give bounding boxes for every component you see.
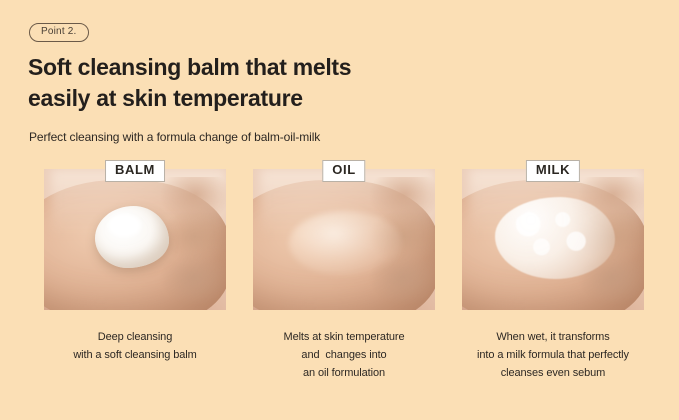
step-card-list: BALM Deep cleansing with a soft cleansin… [44, 169, 644, 382]
step-card-oil: OIL Melts at skin temperature and change… [253, 169, 435, 382]
caption-line: cleanses even sebum [462, 365, 644, 383]
step-label-balm: BALM [105, 160, 165, 182]
balm-blob-shape [95, 206, 169, 268]
step-caption-milk: When wet, it transforms into a milk form… [462, 329, 644, 382]
headline-line-1: Soft cleansing balm that melts [28, 52, 508, 83]
page-title: Soft cleansing balm that melts easily at… [28, 52, 508, 114]
point-badge: Point 2. [29, 23, 89, 42]
step-caption-oil: Melts at skin temperature and changes in… [253, 329, 435, 382]
caption-line: and changes into [253, 347, 435, 365]
milk-foam-shape [495, 197, 615, 279]
step-card-milk: MILK When wet, it transforms into a milk… [462, 169, 644, 382]
promo-page: Point 2. Soft cleansing balm that melts … [0, 0, 679, 420]
caption-line: an oil formulation [253, 365, 435, 383]
step-caption-balm: Deep cleansing with a soft cleansing bal… [44, 329, 226, 365]
hand-with-milk-foam-photo [462, 169, 644, 310]
oil-sheen-shape [289, 211, 402, 276]
caption-line: into a milk formula that perfectly [462, 347, 644, 365]
step-label-milk: MILK [526, 160, 580, 182]
hand-with-oil-photo [253, 169, 435, 310]
caption-line: Deep cleansing [44, 329, 226, 347]
step-card-balm: BALM Deep cleansing with a soft cleansin… [44, 169, 226, 382]
caption-line: When wet, it transforms [462, 329, 644, 347]
hand-with-balm-photo [44, 169, 226, 310]
page-subtitle: Perfect cleansing with a formula change … [29, 130, 320, 144]
caption-line: Melts at skin temperature [253, 329, 435, 347]
caption-line: with a soft cleansing balm [44, 347, 226, 365]
headline-line-2: easily at skin temperature [28, 83, 508, 114]
step-label-oil: OIL [322, 160, 365, 182]
